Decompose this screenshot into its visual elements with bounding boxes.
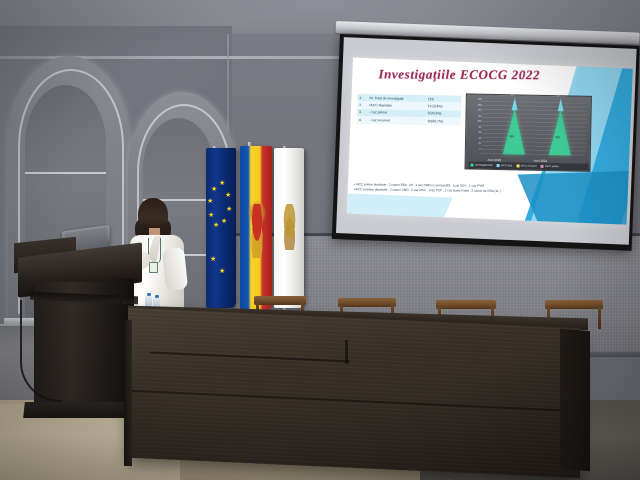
- y-tick: 100: [468, 120, 481, 123]
- table-right-side: [560, 329, 590, 472]
- chair-back: [254, 296, 306, 305]
- projected-slide: Investigațiile ECOCG 2022 1. Nr. Total d…: [347, 58, 633, 225]
- slide-data-table: 1. Nr. Total de investigații 159 2. IACC…: [357, 94, 462, 126]
- bar-top-value-label: 15: [511, 93, 514, 96]
- eu-star-icon: ★: [221, 218, 227, 225]
- table-left-edge: [124, 320, 132, 466]
- eu-star-icon: ★: [219, 180, 225, 187]
- projection-screen-surface: Investigațiile ECOCG 2022 1. Nr. Total d…: [336, 37, 637, 245]
- bottle-cap: [155, 295, 159, 298]
- eu-star-icon: ★: [208, 212, 214, 219]
- y-tick: 120: [468, 115, 481, 118]
- row-label: - caz recurent: [367, 116, 425, 124]
- moldova-coat-of-arms-icon: [248, 204, 266, 258]
- legend-label: IACC primar: [545, 165, 559, 168]
- institution-emblem-icon: [280, 204, 299, 250]
- y-tick: 140: [469, 109, 482, 112]
- row-value: 10(66,7%): [425, 117, 460, 125]
- y-tick: 20: [468, 142, 481, 145]
- legend-swatch: [496, 164, 499, 167]
- eu-star-icon: ★: [211, 186, 217, 193]
- hair: [138, 198, 168, 231]
- eu-star-icon: ★: [219, 268, 225, 275]
- y-tick: 60: [468, 131, 481, 134]
- moldova-flag: [240, 146, 272, 310]
- chair-back: [545, 300, 603, 309]
- legend-item: Investigații total: [471, 164, 493, 167]
- chair-leg: [598, 307, 601, 329]
- chart-legend: Investigații total IACC total IACC recur…: [468, 161, 588, 170]
- bar-top-value-label: 17: [557, 94, 560, 97]
- legend-label: IACC recurent: [521, 164, 537, 167]
- slide-decoration-bottom: [347, 193, 453, 223]
- bar-cone-2022: [503, 108, 526, 154]
- legend-item: IACC primar: [541, 165, 559, 168]
- bar-cone-top-2022: [512, 97, 518, 110]
- european-union-flag: ★ ★ ★ ★ ★ ★ ★ ★ ★ ★: [206, 148, 236, 308]
- chair-back: [338, 298, 396, 307]
- legend-swatch: [516, 164, 519, 167]
- row-number: 4.: [357, 116, 367, 124]
- conference-hall-photo: Investigațiile ECOCG 2022 1. Nr. Total d…: [0, 0, 640, 480]
- slide-bar-chart: 180 160 140 120 100 80 60 40 20 0: [464, 93, 591, 171]
- eu-star-icon: ★: [225, 192, 231, 199]
- y-tick: 40: [468, 137, 481, 140]
- badge: [149, 262, 158, 273]
- eu-star-icon: ★: [207, 198, 213, 205]
- y-tick: 180: [469, 98, 482, 101]
- bar-value-label: 159: [509, 134, 514, 138]
- legend-label: IACC total: [501, 164, 512, 167]
- y-tick: 80: [468, 126, 481, 129]
- chart-plot-area: 159 153 15 17: [481, 99, 587, 156]
- y-tick: 160: [469, 104, 482, 107]
- bar-cone-top-2021: [558, 98, 564, 111]
- legend-swatch: [541, 165, 544, 168]
- eu-star-icon: ★: [210, 256, 216, 263]
- legend-swatch: [471, 164, 474, 167]
- chart-y-axis: 180 160 140 120 100 80 60 40 20 0: [468, 98, 482, 153]
- right-arm: [162, 247, 188, 291]
- eu-star-icon: ★: [213, 222, 219, 229]
- legend-item: IACC total: [496, 164, 512, 167]
- slide-title: Investigațiile ECOCG 2022: [378, 66, 540, 83]
- institution-flag: [274, 148, 304, 308]
- bar-cone-2021: [549, 109, 572, 155]
- legend-label: Investigații total: [475, 164, 492, 167]
- podium-base: [23, 402, 135, 418]
- bar-value-label: 153: [555, 135, 560, 139]
- slide-decoration-darkblue: [517, 171, 632, 225]
- table-row: 4. - caz recurent 10(66,7%): [357, 116, 461, 125]
- bottle-cap: [147, 293, 151, 296]
- eu-star-icon: ★: [226, 206, 232, 213]
- chair-back: [436, 300, 496, 309]
- legend-item: IACC recurent: [516, 164, 536, 167]
- y-tick: 0: [468, 148, 481, 151]
- table-panel-groove: [345, 340, 348, 364]
- projection-screen: Investigațiile ECOCG 2022 1. Nr. Total d…: [332, 34, 640, 251]
